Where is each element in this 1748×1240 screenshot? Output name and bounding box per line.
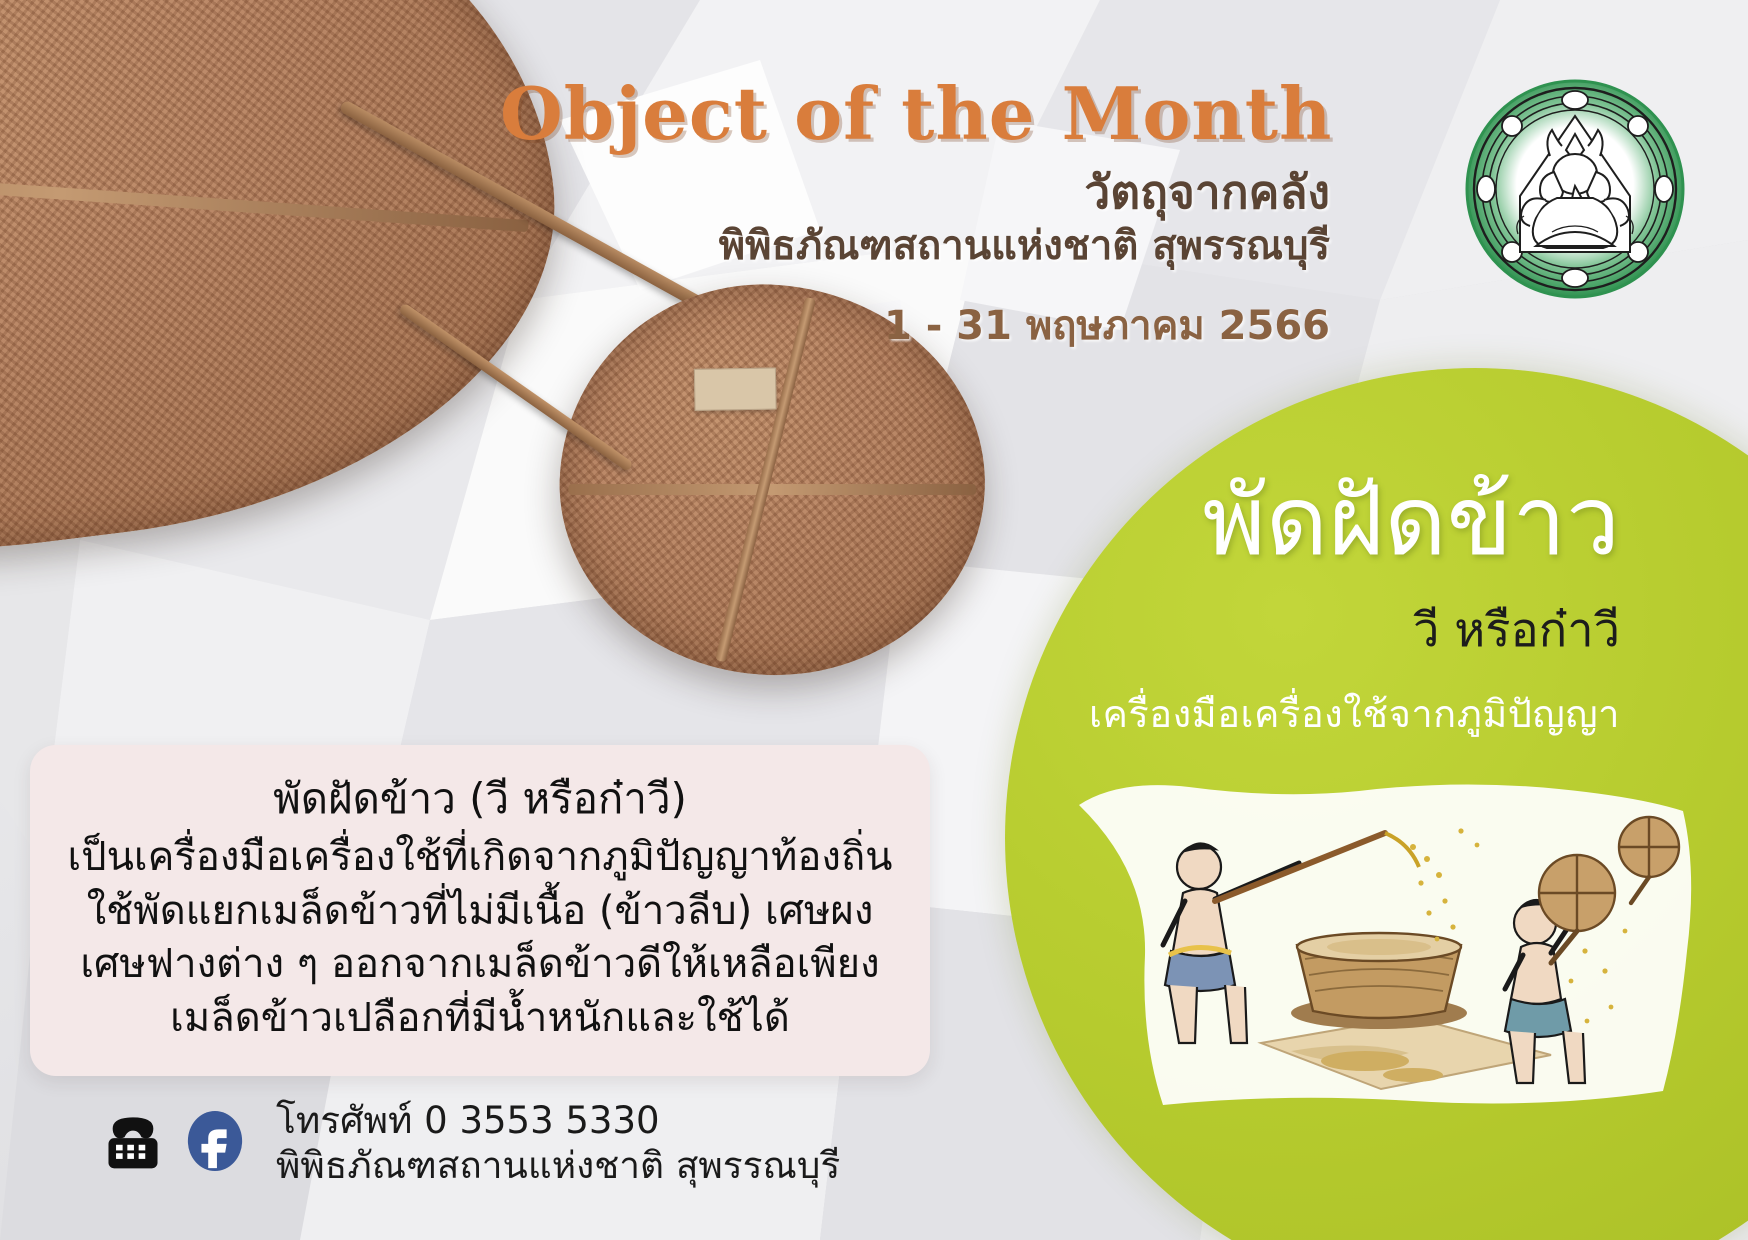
facebook-icon-glyph: [184, 1110, 246, 1172]
object-tagline-thai: เครื่องมือเครื่องใช้จากภูมิปัญญา: [1000, 683, 1620, 744]
green-panel-text: พัดฝัดข้าว วี หรือก๋าวี เครื่องมือเครื่อ…: [1000, 470, 1620, 744]
ganesha-seal-icon: [1462, 76, 1688, 302]
footer-contact: โทรศัพท์ 0 3553 5330 พิพิธภัณฑสถานแห่งชา…: [100, 1098, 840, 1188]
poster-root: Object of the Month วัตถุจากคลัง พิพิธภั…: [0, 0, 1748, 1240]
telephone-icon: [100, 1108, 166, 1178]
description-line: เมล็ดข้าวเปลือกที่มีน้ำหนักและใช้ได้: [40, 992, 920, 1046]
facebook-icon[interactable]: [184, 1110, 246, 1176]
description-line: ใช้พัดแยกเมล็ดข้าวที่ไม่มีเนื้อ (ข้าวลีบ…: [40, 885, 920, 939]
artifact-label-tag: [693, 367, 776, 410]
description-line: พัดฝัดข้าว (วี หรือก๋าวี): [40, 771, 920, 827]
description-card: พัดฝัดข้าว (วี หรือก๋าวี) เป็นเครื่องมือ…: [30, 745, 930, 1076]
fine-arts-department-seal-icon: [1462, 76, 1688, 302]
description-line: เป็นเครื่องมือเครื่องใช้ที่เกิดจากภูมิปั…: [40, 831, 920, 885]
museum-name-footer: พิพิธภัณฑสถานแห่งชาติ สุพรรณบุรี: [276, 1143, 840, 1188]
contact-text-block: โทรศัพท์ 0 3553 5330 พิพิธภัณฑสถานแห่งชา…: [276, 1098, 840, 1188]
page-title-english: Object of the Month: [500, 78, 1330, 150]
header-block: Object of the Month วัตถุจากคลัง พิพิธภั…: [500, 78, 1330, 357]
telephone-icon-glyph: [100, 1108, 166, 1174]
description-line: เศษฟางต่าง ๆ ออกจากเมล็ดข้าวดีให้เหลือเพ…: [40, 938, 920, 992]
object-alias-thai: วี หรือก๋าวี: [1000, 592, 1620, 667]
farmers-winnowing-rice-icon: [1065, 775, 1695, 1105]
object-name-thai: พัดฝัดข้าว: [1000, 470, 1620, 574]
museum-name-header: พิพิธภัณฑสถานแห่งชาติ สุพรรณบุรี: [500, 222, 1330, 271]
fan-rib-horizontal: [568, 484, 976, 495]
exhibition-date-range: 1 - 31 พฤษภาคม 2566: [500, 293, 1330, 357]
winnowing-illustration: [1065, 775, 1695, 1105]
phone-number: โทรศัพท์ 0 3553 5330: [276, 1098, 840, 1143]
page-title-thai: วัตถุจากคลัง: [500, 164, 1330, 220]
